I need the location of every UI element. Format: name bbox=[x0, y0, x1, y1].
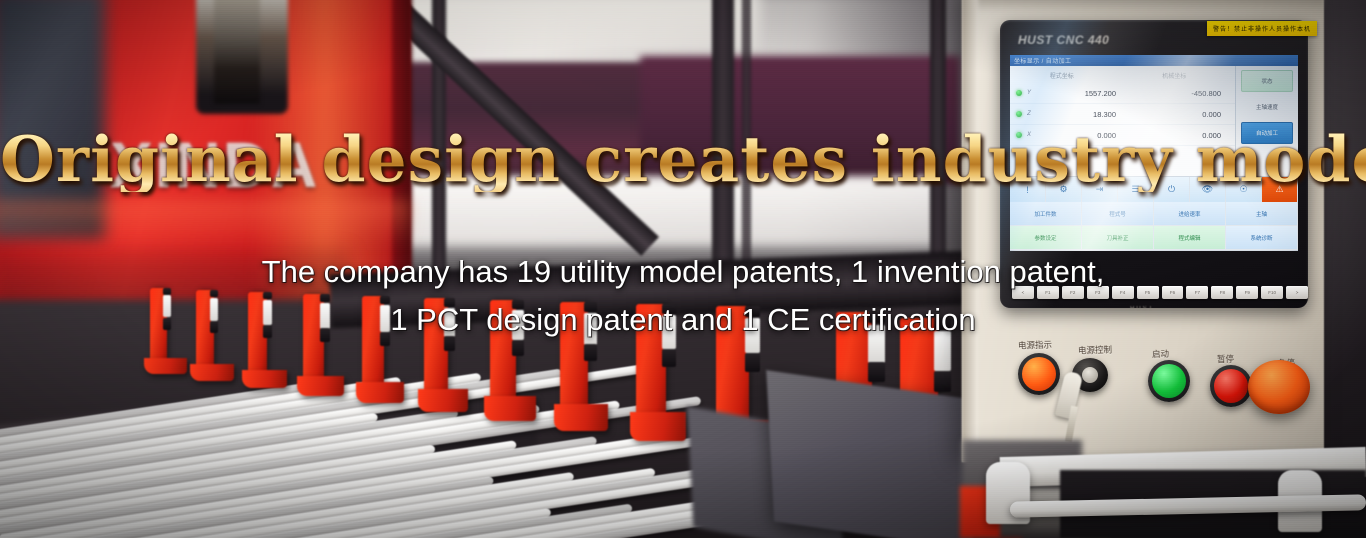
subtitle-line-2: 1 PCT design patent and 1 CE certificati… bbox=[0, 296, 1366, 344]
side-button-status[interactable]: 状态 bbox=[1241, 70, 1293, 92]
control-cabinet-edge bbox=[962, 0, 978, 462]
clamp-finger-foot bbox=[190, 364, 234, 381]
clamp-finger-band-dark bbox=[745, 353, 760, 372]
clamp-finger-foot bbox=[356, 382, 404, 403]
grid-cell[interactable]: 刀具补正 bbox=[1082, 226, 1154, 250]
pause-button[interactable] bbox=[1210, 365, 1252, 407]
clamp-finger-foot bbox=[297, 376, 344, 396]
operator-label-start: 启动 bbox=[1152, 348, 1169, 361]
grid-cell[interactable]: 主轴 bbox=[1226, 202, 1298, 226]
start-button[interactable] bbox=[1148, 360, 1190, 402]
banner-subtitle: The company has 19 utility model patents… bbox=[0, 248, 1366, 344]
axis-name: Z bbox=[1022, 111, 1036, 117]
axis-program-value: 1557.200 bbox=[1036, 89, 1126, 98]
side-button-spindle[interactable]: 主轴速度 bbox=[1241, 96, 1293, 118]
column-header-program: 程式坐标 bbox=[1010, 71, 1114, 80]
axis-machine-value: -450.800 bbox=[1126, 89, 1235, 98]
clamp-finger-band-dark bbox=[868, 362, 885, 382]
operator-label-pause: 暂停 bbox=[1217, 353, 1234, 366]
emergency-stop-button[interactable] bbox=[1248, 360, 1310, 414]
key-switch-barrel bbox=[1082, 367, 1098, 383]
banner-stage: XINDA HUST CNC 440 坐标显示 / 自动加工 程式坐标 机械坐标… bbox=[0, 0, 1366, 538]
cnc-screen-title: 坐标显示 / 自动加工 bbox=[1010, 56, 1071, 65]
grid-cell[interactable]: 系统诊断 bbox=[1226, 226, 1298, 250]
clamp-finger-foot bbox=[484, 396, 536, 421]
coordinate-table-header: 程式坐标 机械坐标 bbox=[1010, 66, 1235, 83]
grid-cell[interactable]: 加工件数 bbox=[1010, 202, 1082, 226]
clamp-finger-band-dark bbox=[934, 371, 951, 392]
clamp-finger-foot bbox=[144, 358, 187, 374]
grid-cell[interactable]: 程式编辑 bbox=[1154, 226, 1226, 250]
clamp-finger-band-dark bbox=[662, 349, 676, 367]
table-row: Y 1557.200 -450.800 bbox=[1010, 83, 1235, 104]
clamp-finger-foot bbox=[242, 370, 287, 388]
warning-strip: 警告！禁止非操作人员操作本机 bbox=[1207, 21, 1317, 36]
clamp-finger-foot bbox=[418, 389, 468, 412]
clamp-finger-foot bbox=[630, 412, 686, 441]
cnc-controller-brand: HUST CNC 440 bbox=[1018, 33, 1158, 49]
clamp-finger-band-dark bbox=[584, 344, 597, 361]
axis-name: Y bbox=[1022, 90, 1036, 96]
operator-label-power-control: 电源控制 bbox=[1078, 343, 1112, 356]
workpiece-sheet-front bbox=[766, 370, 974, 538]
power-indicator-lens bbox=[1022, 357, 1056, 391]
control-cabinet-top bbox=[978, 0, 1324, 12]
axis-machine-value: 0.000 bbox=[1126, 110, 1235, 119]
column-header-machine: 机械坐标 bbox=[1114, 71, 1236, 80]
subtitle-line-1: The company has 19 utility model patents… bbox=[262, 254, 1105, 289]
grid-cell[interactable]: 程式号 bbox=[1082, 202, 1154, 226]
power-indicator-lamp bbox=[1018, 353, 1060, 395]
cnc-screen-titlebar: 坐标显示 / 自动加工 bbox=[1010, 55, 1298, 66]
page-title: Original design creates industry model bbox=[0, 126, 1366, 192]
start-button-face bbox=[1152, 364, 1186, 398]
clamp-finger-foot bbox=[554, 404, 608, 431]
warning-strip-text: 警告！禁止非操作人员操作本机 bbox=[1213, 24, 1311, 33]
grid-cell[interactable]: 参数设定 bbox=[1010, 226, 1082, 250]
grid-cell[interactable]: 进给速率 bbox=[1154, 202, 1226, 226]
axis-program-value: 18.300 bbox=[1036, 110, 1126, 119]
pause-button-face bbox=[1214, 369, 1248, 403]
cnc-status-grid: 加工件数 程式号 进给速率 主轴 参数设定 刀具补正 程式编辑 系统诊断 bbox=[1010, 202, 1298, 250]
